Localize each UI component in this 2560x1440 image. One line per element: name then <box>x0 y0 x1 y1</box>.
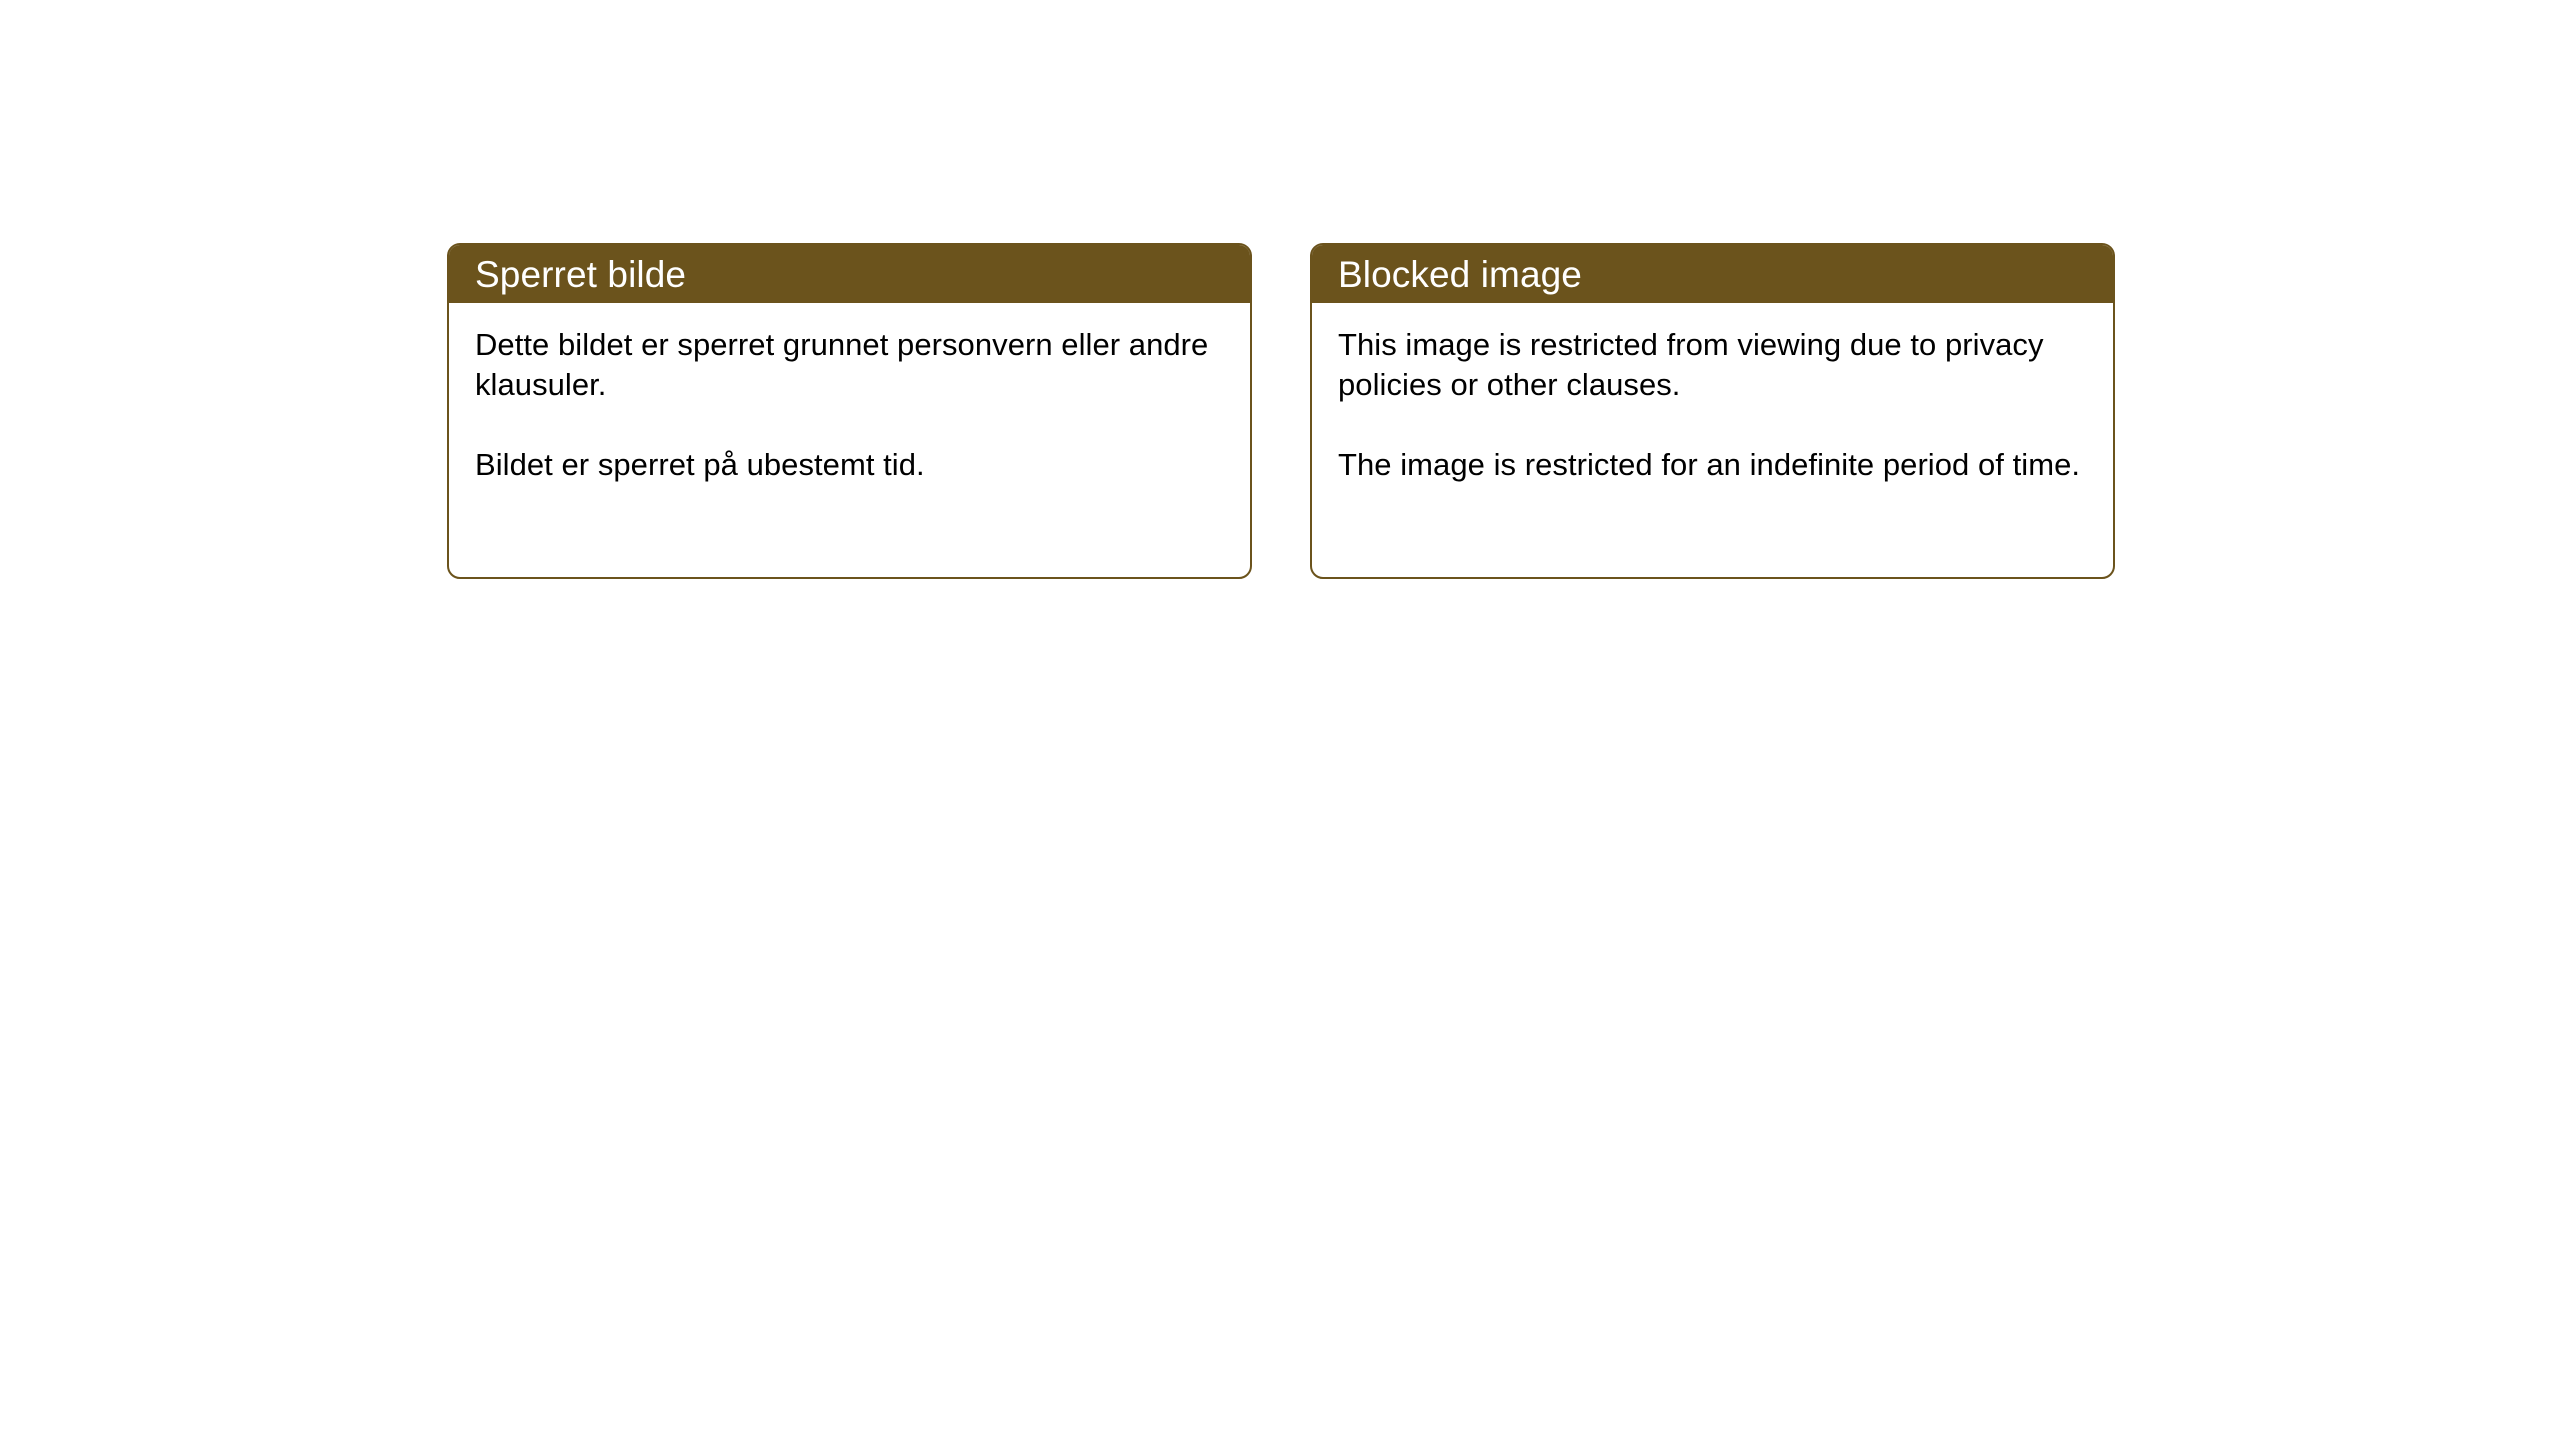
card-header-no: Sperret bilde <box>449 245 1250 303</box>
card-body-no: Dette bildet er sperret grunnet personve… <box>449 303 1250 511</box>
card-header-en: Blocked image <box>1312 245 2113 303</box>
card-body-en: This image is restricted from viewing du… <box>1312 303 2113 511</box>
card-title-no: Sperret bilde <box>475 256 686 293</box>
blocked-image-notice-card-en: Blocked image This image is restricted f… <box>1310 243 2115 579</box>
card-title-en: Blocked image <box>1338 256 1582 293</box>
card-paragraph-reason-en: This image is restricted from viewing du… <box>1338 325 2087 405</box>
card-paragraph-reason-no: Dette bildet er sperret grunnet personve… <box>475 325 1224 405</box>
blocked-image-notice-card-no: Sperret bilde Dette bildet er sperret gr… <box>447 243 1252 579</box>
card-paragraph-duration-en: The image is restricted for an indefinit… <box>1338 445 2087 485</box>
page-root: Sperret bilde Dette bildet er sperret gr… <box>0 0 2560 1440</box>
card-paragraph-duration-no: Bildet er sperret på ubestemt tid. <box>475 445 1224 485</box>
